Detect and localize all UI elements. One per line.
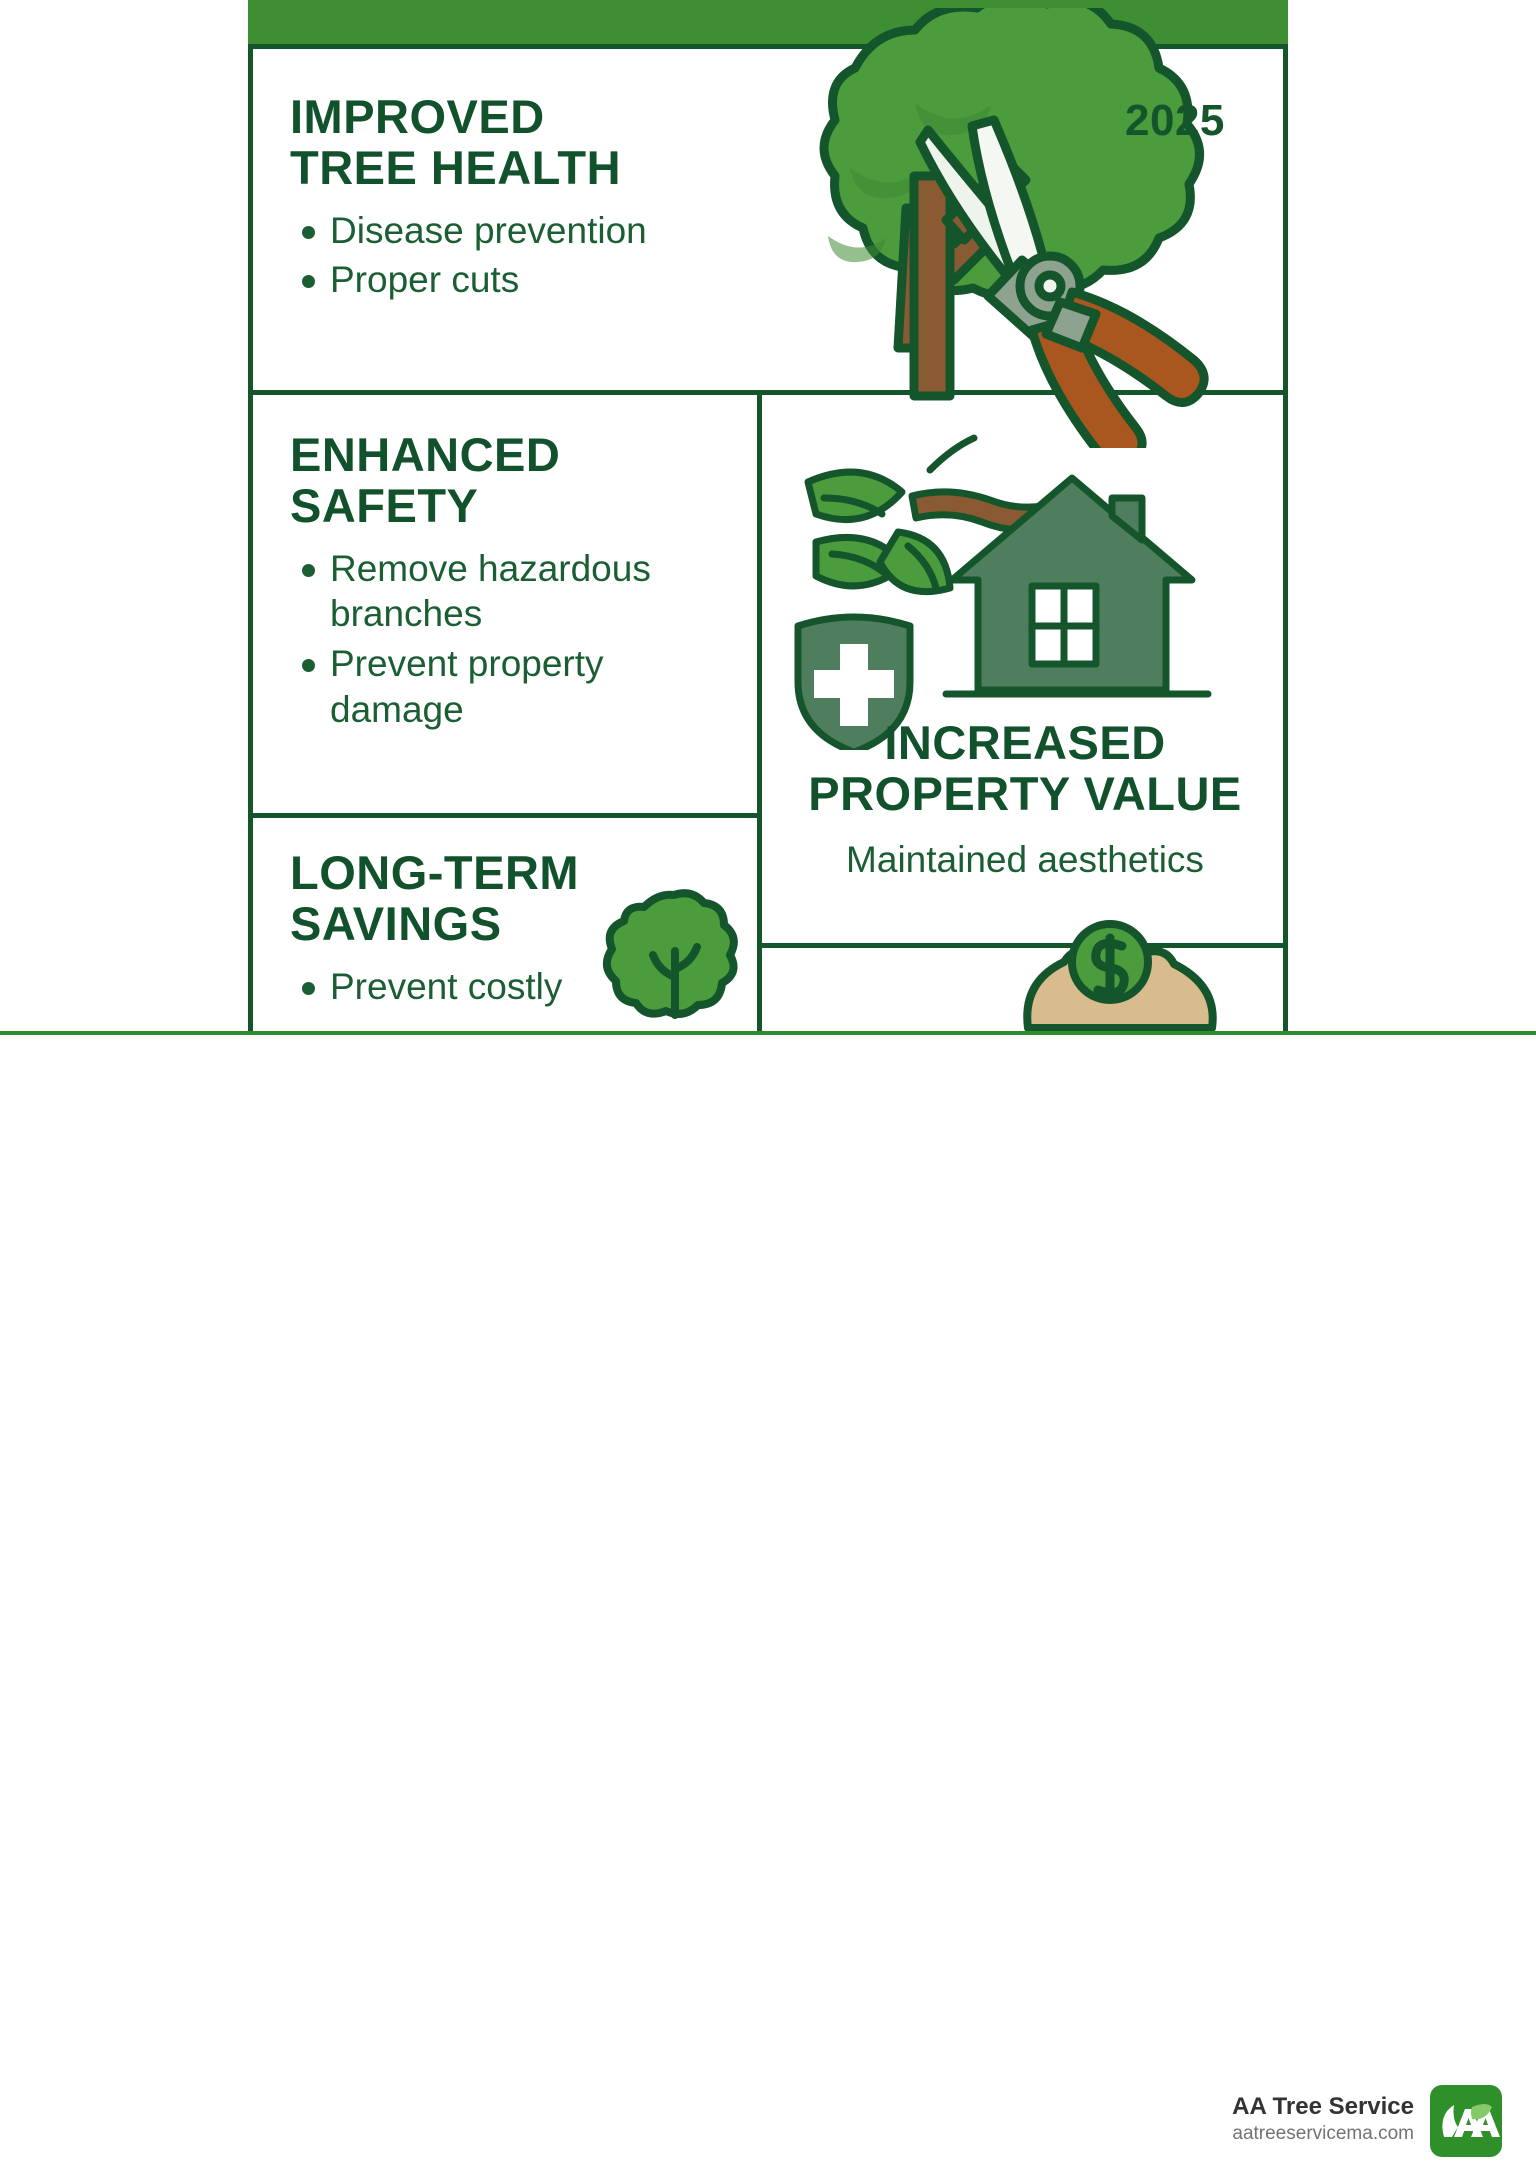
panel-title-enhanced-safety: ENHANCED SAFETY [290,430,730,532]
title-line-1: ENHANCED [290,430,730,481]
panel-increased-property-value: INCREASED PROPERTY VALUE Maintained aest… [770,718,1280,882]
infographic-canvas: IMPROVED TREE HEALTH Disease prevention … [0,0,1536,1033]
brand-name: AA Tree Service [1232,2092,1414,2122]
divider-vertical-center [757,390,762,1033]
title-line-2: PROPERTY VALUE [770,769,1280,820]
aa-logo-icon [1430,2085,1502,2157]
list-item: Proper cuts [290,257,760,303]
title-line-2: SAFETY [290,481,730,532]
panel-improved-tree-health: IMPROVED TREE HEALTH Disease prevention … [290,92,760,307]
panel-title-long-term-savings: LONG-TERM SAVINGS [290,848,710,950]
title-line-1: LONG-TERM [290,848,710,899]
panel-title-improved-tree-health: IMPROVED TREE HEALTH [290,92,760,194]
title-line-2: SAVINGS [290,899,710,950]
divider-horizontal-right [757,943,1288,948]
year-label: 2025 [1125,96,1225,146]
bullet-list-long-term-savings: Prevent costly [290,964,710,1010]
title-line-1: IMPROVED [290,92,760,143]
bullet-list-enhanced-safety: Remove hazardous branches Prevent proper… [290,546,730,734]
list-item: Disease prevention [290,208,760,254]
brand-logo[interactable] [1430,2085,1502,2157]
footer-bar: AA Tree Service aatreeservicema.com [0,1035,1536,1154]
divider-horizontal-top [248,390,1288,395]
infographic-page: IMPROVED TREE HEALTH Disease prevention … [0,0,1536,1154]
title-line-1: INCREASED [770,718,1280,769]
panel-long-term-savings: LONG-TERM SAVINGS Prevent costly [290,848,710,1013]
list-item: Remove hazardous branches [290,546,730,638]
title-line-2: TREE HEALTH [290,143,760,194]
divider-horizontal-left [248,813,762,818]
header-green-band [248,0,1288,44]
panel-title-increased-property-value: INCREASED PROPERTY VALUE [770,718,1280,820]
panel-subtext-increased-property-value: Maintained aesthetics [770,838,1280,882]
panel-enhanced-safety: ENHANCED SAFETY Remove hazardous branche… [290,430,730,737]
brand-text-block: AA Tree Service aatreeservicema.com [1232,2092,1414,2147]
brand-url[interactable]: aatreeservicema.com [1232,2122,1414,2147]
list-item: Prevent costly [290,964,710,1010]
list-item: Prevent property damage [290,641,730,733]
bullet-list-improved-tree-health: Disease prevention Proper cuts [290,208,760,304]
